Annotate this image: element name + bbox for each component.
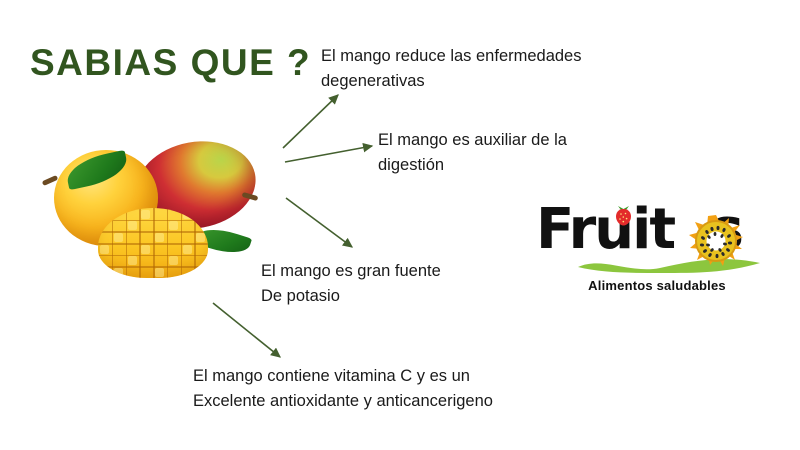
mango-dice-highlight xyxy=(141,245,150,254)
fruitos-logo: Fruitos xyxy=(524,198,790,302)
mango-diced-cheek xyxy=(98,208,208,278)
mango-dice-highlight xyxy=(196,268,205,277)
mango-dice-highlight xyxy=(128,221,137,230)
mango-dice-line xyxy=(98,220,208,222)
arrow-to-fact-2 xyxy=(285,146,372,162)
slide-canvas: SABIAS QUE ? El mango reduce las enferme… xyxy=(0,0,800,450)
mango-dice-highlight xyxy=(128,256,137,265)
arrow-to-fact-4 xyxy=(213,303,280,357)
mango-dice-highlight xyxy=(141,210,150,219)
arrow-to-fact-1 xyxy=(283,95,338,148)
mango-dice-highlight xyxy=(196,233,205,242)
mango-dice-highlight xyxy=(155,268,164,277)
fact-text-potassium: El mango es gran fuente De potasio xyxy=(261,259,541,309)
mango-photo xyxy=(28,136,260,286)
mango-dice-highlight xyxy=(183,210,192,219)
mango-dice-highlight xyxy=(114,233,123,242)
mango-dice-highlight xyxy=(169,221,178,230)
mango-dice-highlight xyxy=(183,245,192,254)
passion-fruit-o-icon xyxy=(688,214,744,270)
mango-dice-line xyxy=(98,243,208,245)
logo-wordmark-part2: it xyxy=(632,197,674,262)
page-title: SABIAS QUE ? xyxy=(30,42,311,84)
mango-dice-highlight xyxy=(169,256,178,265)
mango-dice-highlight xyxy=(100,210,109,219)
fact-text-vitamin-c: El mango contiene vitamina C y es un Exc… xyxy=(193,364,573,414)
mango-dice-line xyxy=(98,255,208,257)
fact-text-digestion: El mango es auxiliar de la digestión xyxy=(378,128,678,178)
mango-dice-highlight xyxy=(100,245,109,254)
logo-tagline: Alimentos saludables xyxy=(524,278,790,293)
strawberry-icon xyxy=(615,204,632,226)
arrow-to-fact-3 xyxy=(286,198,352,247)
fact-text-degenerative-diseases: El mango reduce las enfermedades degener… xyxy=(321,44,651,94)
mango-dice-highlight xyxy=(114,268,123,277)
mango-dice-highlight xyxy=(155,233,164,242)
